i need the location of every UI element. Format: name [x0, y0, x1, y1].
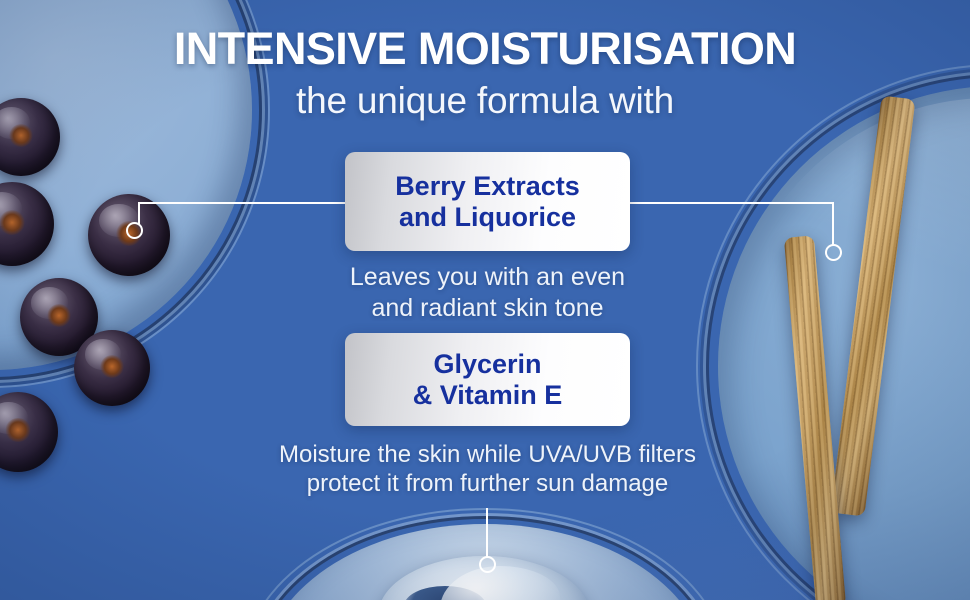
callout-glycerin-label-line2: & Vitamin E [413, 380, 563, 410]
callout-box-glycerin-vitamin-e: Glycerin & Vitamin E [345, 333, 630, 426]
callout-glycerin-label-line1: Glycerin [433, 349, 541, 379]
headline-subtitle: the unique formula with [0, 80, 970, 122]
bottom-connector-circle-marker [479, 556, 496, 573]
headline-title: INTENSIVE MOISTURISATION [0, 26, 970, 73]
right-connector-circle-marker [825, 244, 842, 261]
left-connector-horizontal-line [138, 202, 346, 204]
callout-glycerin-desc-line2: protect it from further sun damage [307, 470, 669, 497]
left-connector-circle-marker [126, 222, 143, 239]
bottom-connector-vertical-line [486, 508, 488, 558]
left-connector-vertical-line [138, 202, 140, 224]
product-banner: INTENSIVE MOISTURISATION the unique form… [0, 0, 970, 600]
callout-glycerin-description: Moisture the skin while UVA/UVB filters … [215, 440, 760, 499]
callout-berry-desc-line2: and radiant skin tone [371, 294, 603, 322]
callout-box-berry-extracts: Berry Extracts and Liquorice [345, 152, 630, 251]
right-connector-horizontal-line [630, 202, 834, 204]
callout-glycerin-desc-line1: Moisture the skin while UVA/UVB filters [279, 441, 696, 468]
right-connector-vertical-line [832, 202, 834, 246]
callout-berry-description: Leaves you with an even and radiant skin… [285, 262, 690, 323]
callout-berry-label-line1: Berry Extracts [395, 171, 580, 201]
callout-berry-desc-line1: Leaves you with an even [350, 263, 625, 291]
callout-berry-label-line2: and Liquorice [399, 202, 576, 232]
banner-content: INTENSIVE MOISTURISATION the unique form… [0, 0, 970, 600]
